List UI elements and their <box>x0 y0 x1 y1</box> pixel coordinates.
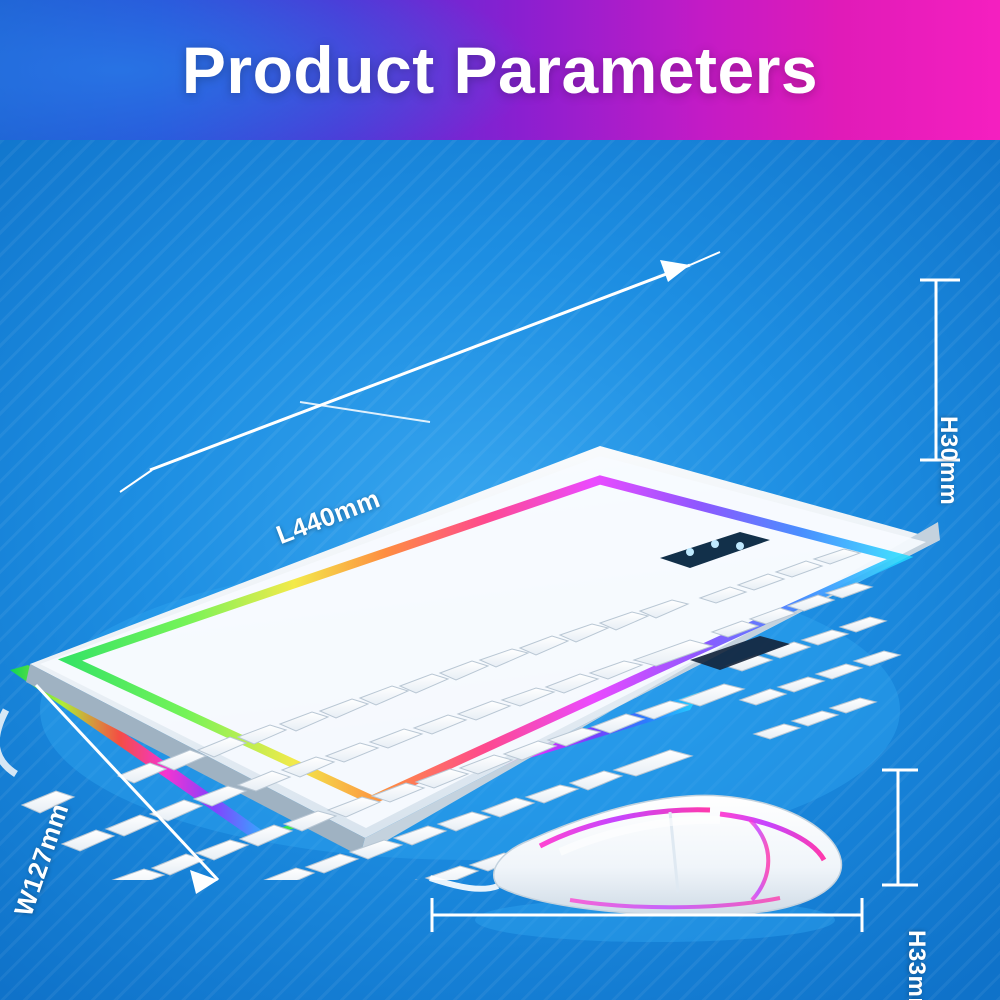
dimension-label-keyboard-height: H30mm <box>934 416 962 505</box>
dimension-label-mouse-height: H33mm <box>902 930 930 1000</box>
product-parameters-infographic: Product Parameters <box>0 0 1000 1000</box>
dimension-overlay <box>0 140 1000 1000</box>
diagram-canvas: L440mm W127mm H30mm H33mm L126mm <box>0 140 1000 1000</box>
page-title: Product Parameters <box>0 0 1000 140</box>
